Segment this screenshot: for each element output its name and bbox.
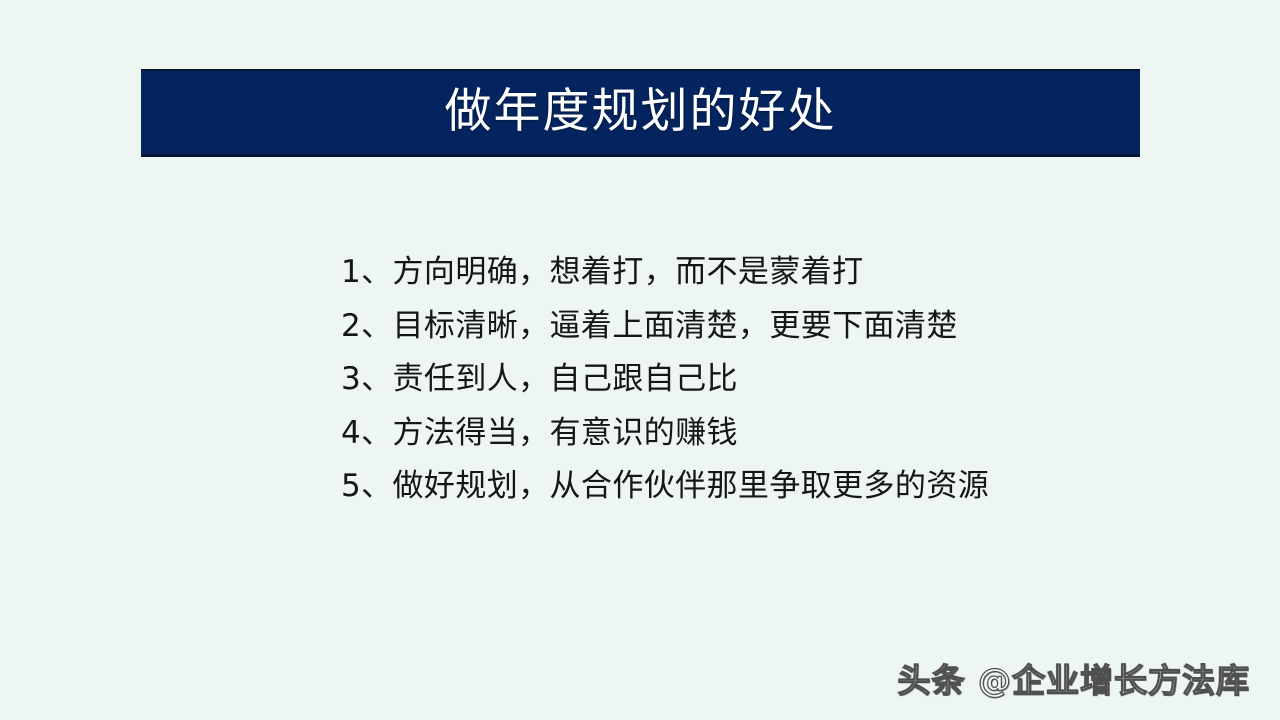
list-item: 2、目标清晰，逼着上面清楚，更要下面清楚: [341, 300, 1201, 354]
list-item: 5、做好规划，从合作伙伴那里争取更多的资源: [341, 460, 1201, 514]
list-item: 3、责任到人，自己跟自己比: [341, 353, 1201, 407]
slide-canvas: 做年度规划的好处 1、方向明确，想着打，而不是蒙着打 2、目标清晰，逼着上面清楚…: [0, 0, 1280, 720]
list-item: 1、方向明确，想着打，而不是蒙着打: [341, 246, 1201, 300]
title-banner: 做年度规划的好处: [141, 69, 1140, 157]
bullet-list: 1、方向明确，想着打，而不是蒙着打 2、目标清晰，逼着上面清楚，更要下面清楚 3…: [341, 246, 1201, 514]
list-item: 4、方法得当，有意识的赚钱: [341, 407, 1201, 461]
watermark-text: 头条 @企业增长方法库: [898, 654, 1251, 702]
page-title: 做年度规划的好处: [445, 89, 837, 136]
